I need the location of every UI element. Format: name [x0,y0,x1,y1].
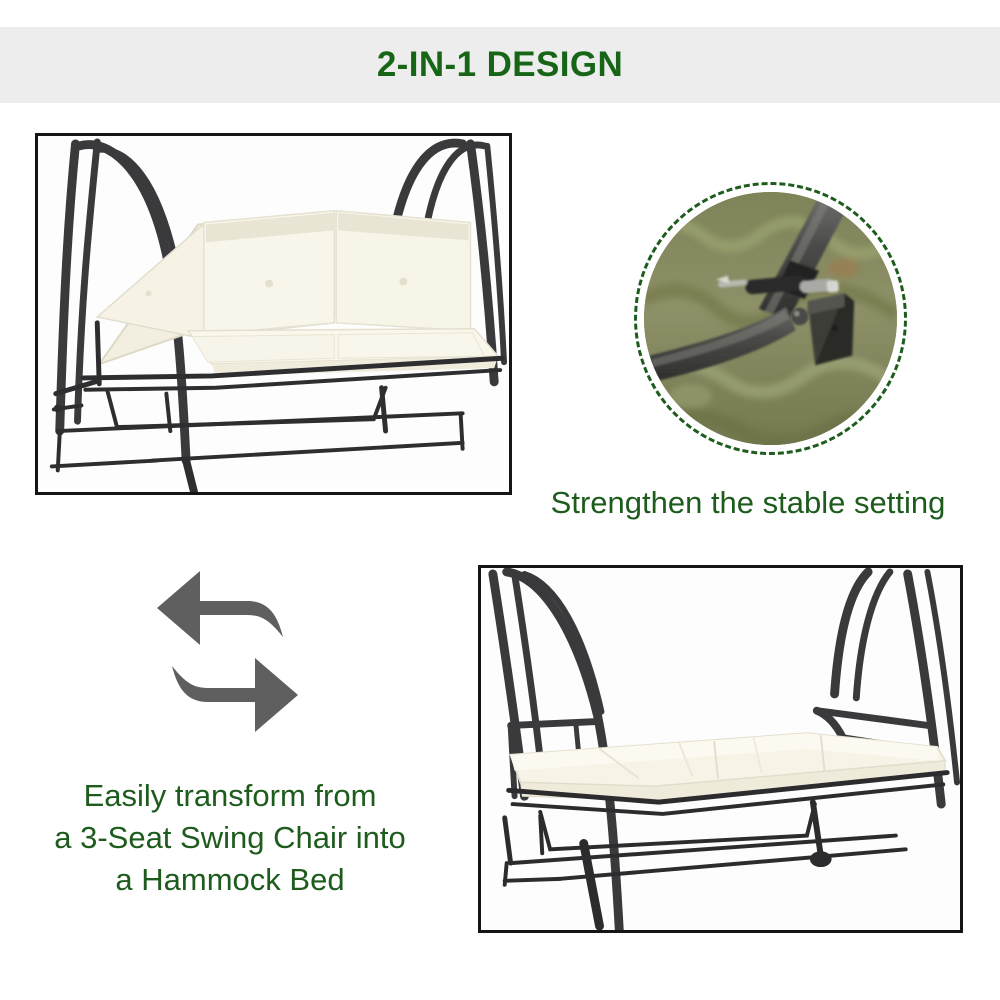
bracket-hardware-illustration [644,192,897,445]
detail-circle-photo [644,192,897,445]
caption-transform-line-1: Easily transform from [20,775,440,817]
swap-arrows-glyph [155,565,300,740]
photo-panel-hammock-bed [478,565,963,933]
swap-arrows-icon [155,565,300,740]
detail-circle-frame [634,182,907,455]
swing-chair-illustration [38,136,509,492]
caption-transform-line-2: a 3-Seat Swing Chair into [20,817,440,859]
photo-panel-swing-chair [35,133,512,495]
caption-transform: Easily transform from a 3-Seat Swing Cha… [20,775,440,901]
caption-transform-line-3: a Hammock Bed [20,859,440,901]
hammock-bed-illustration [481,568,960,930]
caption-strengthen-stable-setting: Strengthen the stable setting [513,482,983,524]
page-title: 2-IN-1 DESIGN [0,27,1000,103]
